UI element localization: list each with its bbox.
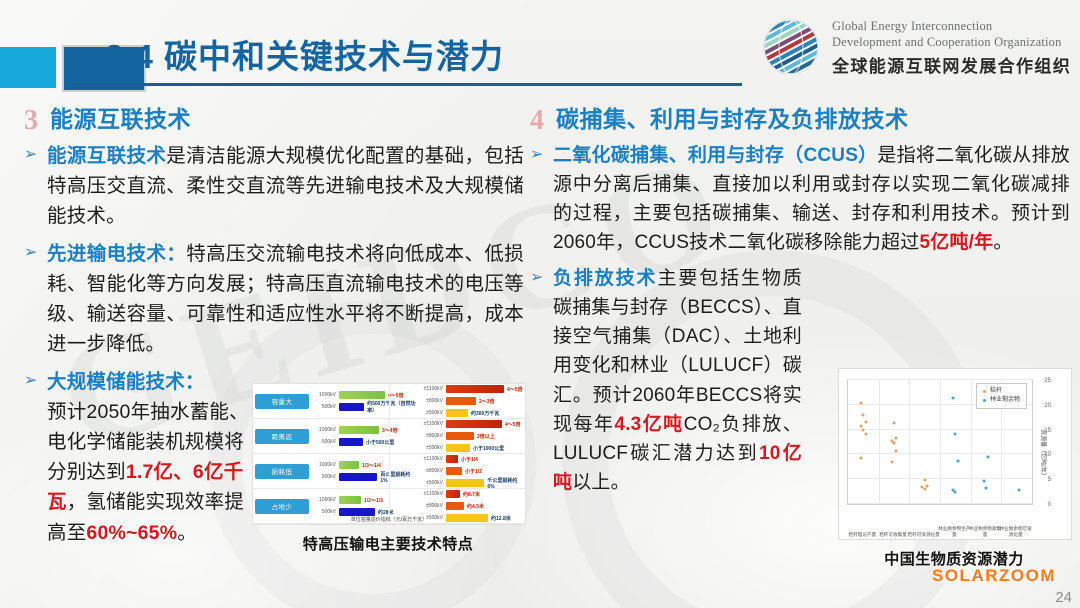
scatter-point <box>952 396 955 399</box>
section-number-4: 4 <box>530 107 544 135</box>
chart-bar-note: 2倍以上 <box>477 433 495 440</box>
globe-logo-icon <box>760 16 822 78</box>
chart-voltage-label: ±800kV <box>419 433 443 439</box>
chart-bar-note: 小于1/4 <box>461 456 478 463</box>
chart-bar <box>339 508 375 516</box>
chart-row-label: 占地少 <box>255 499 309 514</box>
bullet-highlight-1: 4.3亿吨 <box>614 414 683 435</box>
scatter-point <box>893 442 896 445</box>
y-axis-tick-label: 0 <box>1048 502 1051 508</box>
chart-bar <box>446 420 502 428</box>
chart-bar <box>339 391 385 399</box>
chart-bar <box>446 397 476 405</box>
bullet-arrow-icon: ➢ <box>530 266 546 499</box>
y-axis-tick-label: 10 <box>1044 452 1051 458</box>
chart-row-dc-side: ±1100kV4～5倍 ±800kV2倍以上 ±500kV小于1000公里 <box>416 420 523 453</box>
chart-row-ac-side: 1000kV1/3～1/4 500kV百公里损耗约1% <box>309 461 416 482</box>
chart-bar-line: 1000kV4～5倍 <box>312 391 416 400</box>
chart-bar-note: 千公里损耗约6% <box>487 477 523 490</box>
bullet-body-post: 以上。 <box>572 472 630 493</box>
chart-bar-line: 500kV百公里损耗约1% <box>312 473 416 482</box>
chart-bar-line: ±500kV千公里损耗约6% <box>419 479 523 488</box>
chart-bar-line: 1000kV1/2～1/3 <box>312 496 416 505</box>
chart-voltage-label: ±1100kV <box>419 491 443 497</box>
chart-bar <box>446 455 458 463</box>
scatter-point <box>893 421 896 424</box>
right-section-header: 4 碳捕集、利用与封存及负排放技术 <box>530 100 1070 134</box>
chart-bar-note: 4～5倍 <box>388 392 404 399</box>
chart-voltage-label: ±1100kV <box>419 386 443 392</box>
x-axis-tick-label: 林业剩余物可资源化量 <box>998 526 1034 537</box>
left-section-header: 3 能源互联技术 <box>24 100 524 134</box>
chart-bar <box>446 432 474 440</box>
bullet-item: ➢ 负排放技术主要包括生物质碳捕集与封存（BECCS）、直接空气捕集（DAC）、… <box>530 264 802 497</box>
chart-bar <box>446 479 484 487</box>
biomass-scatter-chart: 秸秆 林业剩余物 资源量（亿吨/年） 0510152025秸秆理论产量秸秆可收集… <box>838 368 1072 540</box>
bullet-body-post: 。 <box>177 522 197 544</box>
scatter-point <box>864 432 867 435</box>
section-title-energy-interconnection: 能源互联技术 <box>50 100 191 134</box>
logo-text-cn: 全球能源互联网发展合作组织 <box>832 52 1071 77</box>
uhv-comparison-chart: 容量大 1000kV4～5倍 500kV约500万千瓦（自然功率） ±1100k… <box>252 383 526 525</box>
legend-entry: 林业剩余物 <box>983 396 1020 405</box>
header-accent-square-light <box>0 47 56 88</box>
organization-logo: Global Energy Interconnection Developmen… <box>760 14 1070 80</box>
chart-bar-note: 小于500公里 <box>366 439 394 446</box>
legend-label: 秸秆 <box>990 387 1002 396</box>
chart-bar-note: 1/3～1/4 <box>362 462 381 469</box>
chart-bar <box>446 490 460 498</box>
chart-bar <box>446 444 470 452</box>
bullet-item: ➢ 先进输电技术：特高压交流输电技术将向低成本、低损耗、智能化等方向发展；特高压… <box>24 239 524 360</box>
bullet-keyword: 二氧化碳捕集、利用与封存（CCUS） <box>553 145 877 166</box>
scatter-point <box>890 461 893 464</box>
slide-header: 3.4 碳中和关键技术与潜力 <box>0 0 1080 92</box>
chart-voltage-label: 1000kV <box>312 497 336 503</box>
page-title: 3.4 碳中和关键技术与潜力 <box>105 30 504 78</box>
chart-bar-line: ±500kV约300万千瓦 <box>419 409 523 418</box>
chart-bar-note: 约28米 <box>378 509 394 516</box>
legend-label: 林业剩余物 <box>990 396 1020 405</box>
chart-bar <box>339 426 379 434</box>
chart-row-label: 损耗低 <box>255 464 309 479</box>
chart-bar <box>339 403 364 411</box>
chart-bar-line: 500kV小于500公里 <box>312 438 416 447</box>
y-axis-tick-label: 5 <box>1048 477 1051 483</box>
scatter-point <box>923 487 926 490</box>
chart-bar-note: 百公里损耗约1% <box>380 471 416 484</box>
chart-bar-line: ±1100kV约8.7米 <box>419 490 523 499</box>
chart-bar <box>339 473 377 481</box>
scatter-point <box>895 450 898 453</box>
chart-bar-line: 1000kV1/3～1/4 <box>312 461 416 470</box>
scatter-legend: 秸秆 林业剩余物 <box>976 383 1027 409</box>
chart-voltage-label: ±500kV <box>419 445 443 451</box>
bullet-keyword: 负排放技术 <box>553 268 657 289</box>
chart-row-dc-side: ±1100kV小于1/4 ±800kV小于1/2 ±500kV千公里损耗约6% <box>416 455 523 488</box>
chart-row-ac-side: 1000kV4～5倍 500kV约500万千瓦（自然功率） <box>309 391 416 412</box>
chart-voltage-label: 500kV <box>312 404 336 410</box>
chart-bar-note: 约300万千瓦 <box>471 410 499 417</box>
y-axis-tick-label: 25 <box>1044 378 1051 384</box>
chart-row-label: 距离远 <box>255 429 309 444</box>
chart-voltage-label: ±500kV <box>419 480 443 486</box>
chart-bar-line: 1000kV3～4倍 <box>312 426 416 435</box>
bullet-text: 二氧化碳捕集、利用与封存（CCUS）是指将二氧化碳从排放源中分离后捕集、直接加以… <box>553 141 1070 257</box>
chart-bar-note: 4～5倍 <box>507 386 523 393</box>
bullet-text: 能源互联技术是清洁能源大规模优化配置的基础，包括特高压交直流、柔性交直流等先进输… <box>47 141 524 232</box>
chart-bar <box>339 438 363 446</box>
bullet-arrow-icon: ➢ <box>24 143 40 234</box>
chart-voltage-label: ±800kV <box>419 503 443 509</box>
bullet-keyword: 大规模储能技术： <box>47 371 205 393</box>
chart-voltage-label: 1000kV <box>312 392 336 398</box>
scatter-point <box>982 480 985 483</box>
chart-bar-note: 小于1000公里 <box>473 445 504 452</box>
figure-biomass-potential: 秸秆 林业剩余物 资源量（亿吨/年） 0510152025秸秆理论产量秸秆可收集… <box>838 368 1070 569</box>
bullet-text: 先进输电技术：特高压交流输电技术将向低成本、低损耗、智能化等方向发展；特高压直流… <box>47 239 524 360</box>
gridline-vertical <box>971 380 972 504</box>
figure-caption-left: 特高压输电主要技术特点 <box>252 533 524 554</box>
chart-voltage-label: ±800kV <box>419 468 443 474</box>
scatter-point <box>860 456 863 459</box>
chart-bar-line: ±800kV小于1/2 <box>419 467 523 476</box>
chart-bar-line: ±500kV小于1000公里 <box>419 444 523 453</box>
chart-bar-line: ±800kV2倍以上 <box>419 432 523 441</box>
scatter-point <box>860 424 863 427</box>
chart-bar-line: ±800kV约4.5米 <box>419 502 523 511</box>
chart-voltage-label: 500kV <box>312 474 336 480</box>
y-axis-tick-label: 20 <box>1044 403 1051 409</box>
y-axis-tick-label: 15 <box>1044 428 1051 434</box>
chart-bar <box>339 461 359 469</box>
section-title-ccus: 碳捕集、利用与封存及负排放技术 <box>556 100 909 134</box>
chart-row-label: 容量大 <box>255 394 309 409</box>
chart-row-ac-side: 1000kV1/2～1/3 500kV约28米 <box>309 496 416 517</box>
bullet-text: 大规模储能技术：预计2050年抽水蓄能、电化学储能装机规模将分别达到1.7亿、6… <box>47 367 256 548</box>
scatter-point <box>895 436 898 439</box>
bullet-arrow-icon: ➢ <box>24 241 40 362</box>
chart-bar-note: 约8.7米 <box>463 491 480 498</box>
chart-bar-line: ±800kV2～3倍 <box>419 397 523 406</box>
chart-voltage-label: 500kV <box>312 439 336 445</box>
chart-bar <box>339 496 361 504</box>
logo-text-en-line1: Global Energy Interconnection <box>832 18 1071 34</box>
scatter-point <box>864 420 867 423</box>
chart-voltage-label: 1000kV <box>312 427 336 433</box>
chart-bar-note: 2～3倍 <box>479 398 495 405</box>
chart-bar-line: 500kV约500万千瓦（自然功率） <box>312 403 416 412</box>
chart-bar <box>446 385 504 393</box>
scatter-point <box>923 478 926 481</box>
scatter-point <box>860 401 863 404</box>
chart-bar-note: 约4.5米 <box>467 503 484 510</box>
chart-bar <box>446 409 468 417</box>
bullet-body-pre: 主要包括生物质碳捕集与封存（BECCS）、直接空气捕集（DAC）、土地利用变化和… <box>553 268 802 434</box>
title-underline <box>70 83 742 86</box>
bullet-item: ➢ 二氧化碳捕集、利用与封存（CCUS）是指将二氧化碳从排放源中分离后捕集、直接… <box>530 141 1070 257</box>
chart-center-divider <box>389 384 390 524</box>
bullet-highlight-2: 60%~65% <box>86 522 177 544</box>
legend-marker-icon <box>983 399 986 402</box>
scatter-point <box>862 413 865 416</box>
bullet-keyword: 能源互联技术 <box>47 145 166 167</box>
chart-row-ac-side: 1000kV3～4倍 500kV小于500公里 <box>309 426 416 447</box>
bullet-text: 负排放技术主要包括生物质碳捕集与封存（BECCS）、直接空气捕集（DAC）、土地… <box>553 264 802 497</box>
chart-bar <box>446 467 462 475</box>
scatter-point <box>954 433 957 436</box>
page-number: 24 <box>1055 589 1072 606</box>
chart-bar-line: ±1100kV小于1/4 <box>419 455 523 464</box>
scatter-point <box>954 490 957 493</box>
scatter-point <box>985 486 988 489</box>
section-number-3: 3 <box>24 107 38 135</box>
logo-text-en-line2: Development and Cooperation Organization <box>832 34 1071 50</box>
legend-entry: 秸秆 <box>983 387 1020 396</box>
bullet-item: ➢ 能源互联技术是清洁能源大规模优化配置的基础，包括特高压交直流、柔性交直流等先… <box>24 141 524 232</box>
legend-marker-icon <box>983 390 986 393</box>
bullet-arrow-icon: ➢ <box>24 369 40 550</box>
slide-canvas: GEIDCO 3.4 碳中和关键技术与潜力 <box>0 0 1080 608</box>
chart-voltage-label: 500kV <box>312 509 336 515</box>
bullet-keyword: 先进输电技术： <box>47 243 186 265</box>
scatter-point <box>987 456 990 459</box>
chart-bar-note: 小于1/2 <box>465 468 482 475</box>
chart-voltage-label: ±500kV <box>419 410 443 416</box>
solarzoom-watermark: SOLARZOOM <box>932 566 1056 586</box>
chart-footer-note: 单位容量造价指标（元/百万千瓦） <box>253 516 525 523</box>
bullet-highlight-1: 5亿吨/年 <box>920 232 994 253</box>
scatter-point <box>1017 489 1020 492</box>
bullet-arrow-icon: ➢ <box>530 143 546 259</box>
chart-voltage-label: ±1100kV <box>419 456 443 462</box>
chart-voltage-label: 1000kV <box>312 462 336 468</box>
chart-bar-note: 1/2～1/3 <box>364 497 383 504</box>
chart-voltage-label: ±800kV <box>419 398 443 404</box>
chart-bar-line: ±1100kV4～5倍 <box>419 420 523 429</box>
bullet-item: ➢ 大规模储能技术：预计2050年抽水蓄能、电化学储能装机规模将分别达到1.7亿… <box>24 367 256 548</box>
chart-bar-note: 4～5倍 <box>505 421 521 428</box>
scatter-point <box>956 459 959 462</box>
chart-voltage-label: ±1100kV <box>419 421 443 427</box>
chart-row-dc-side: ±1100kV4～5倍 ±800kV2～3倍 ±500kV约300万千瓦 <box>416 385 523 418</box>
scatter-point <box>862 428 865 431</box>
bullet-body-post: 。 <box>993 232 1012 253</box>
gridline-vertical <box>879 380 880 504</box>
gridline-vertical <box>940 380 941 504</box>
chart-bar <box>446 502 464 510</box>
figure-uhv-characteristics: 容量大 1000kV4～5倍 500kV约500万千瓦（自然功率） ±1100k… <box>252 383 524 554</box>
chart-bar-note: 约500万千瓦（自然功率） <box>367 400 416 414</box>
chart-bar-line: ±1100kV4～5倍 <box>419 385 523 394</box>
gridline-vertical <box>909 380 910 504</box>
